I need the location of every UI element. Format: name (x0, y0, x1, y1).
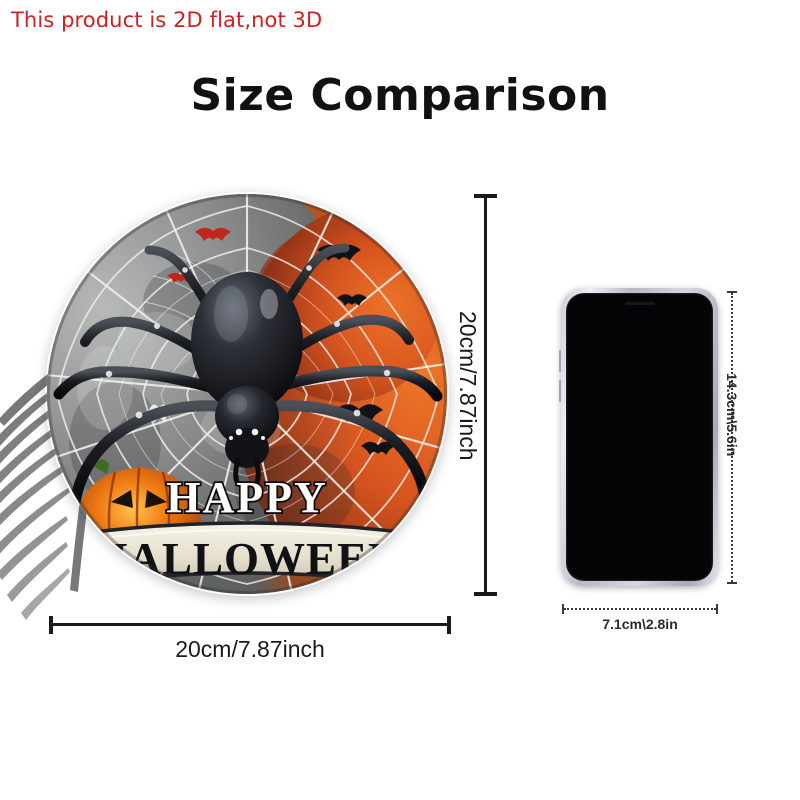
dimension-cap-right (716, 604, 718, 614)
phone-height-label: 14.3cm\5.6in (724, 373, 740, 456)
phone-height-dimension: 14.3cm\5.6in (727, 289, 767, 586)
phone-volume-down-button (559, 380, 561, 402)
dimension-cap-right (447, 616, 451, 634)
dimension-line (564, 608, 716, 610)
product-image: HAPPY HALLOWEEN (45, 192, 449, 596)
sign-height-label: 20cm/7.87inch (454, 311, 481, 461)
artwork-headline-top: HAPPY (166, 473, 328, 522)
sign-width-dimension: 20cm/7.87inch (48, 612, 452, 670)
phone-earpiece-icon (625, 302, 655, 305)
phone-screen (566, 293, 713, 581)
phone-volume-up-button (559, 350, 561, 372)
sign-width-label: 20cm/7.87inch (48, 636, 452, 663)
product-flatness-notice: This product is 2D flat,not 3D (11, 8, 322, 32)
phone-width-dimension: 7.1cm\2.8in (560, 600, 720, 640)
dimension-cap-bottom (474, 592, 497, 596)
phone-width-label: 7.1cm\2.8in (560, 616, 720, 632)
dimension-cap-bottom (727, 582, 737, 584)
halloween-round-sign-artwork: HAPPY HALLOWEEN (45, 192, 449, 596)
sign-height-dimension: 20cm/7.87inch (468, 193, 512, 597)
reference-phone (561, 288, 718, 586)
dimension-line (484, 196, 487, 594)
size-comparison-page: This product is 2D flat,not 3D Size Comp… (0, 0, 800, 800)
dimension-line (51, 623, 449, 626)
page-title: Size Comparison (0, 70, 800, 121)
